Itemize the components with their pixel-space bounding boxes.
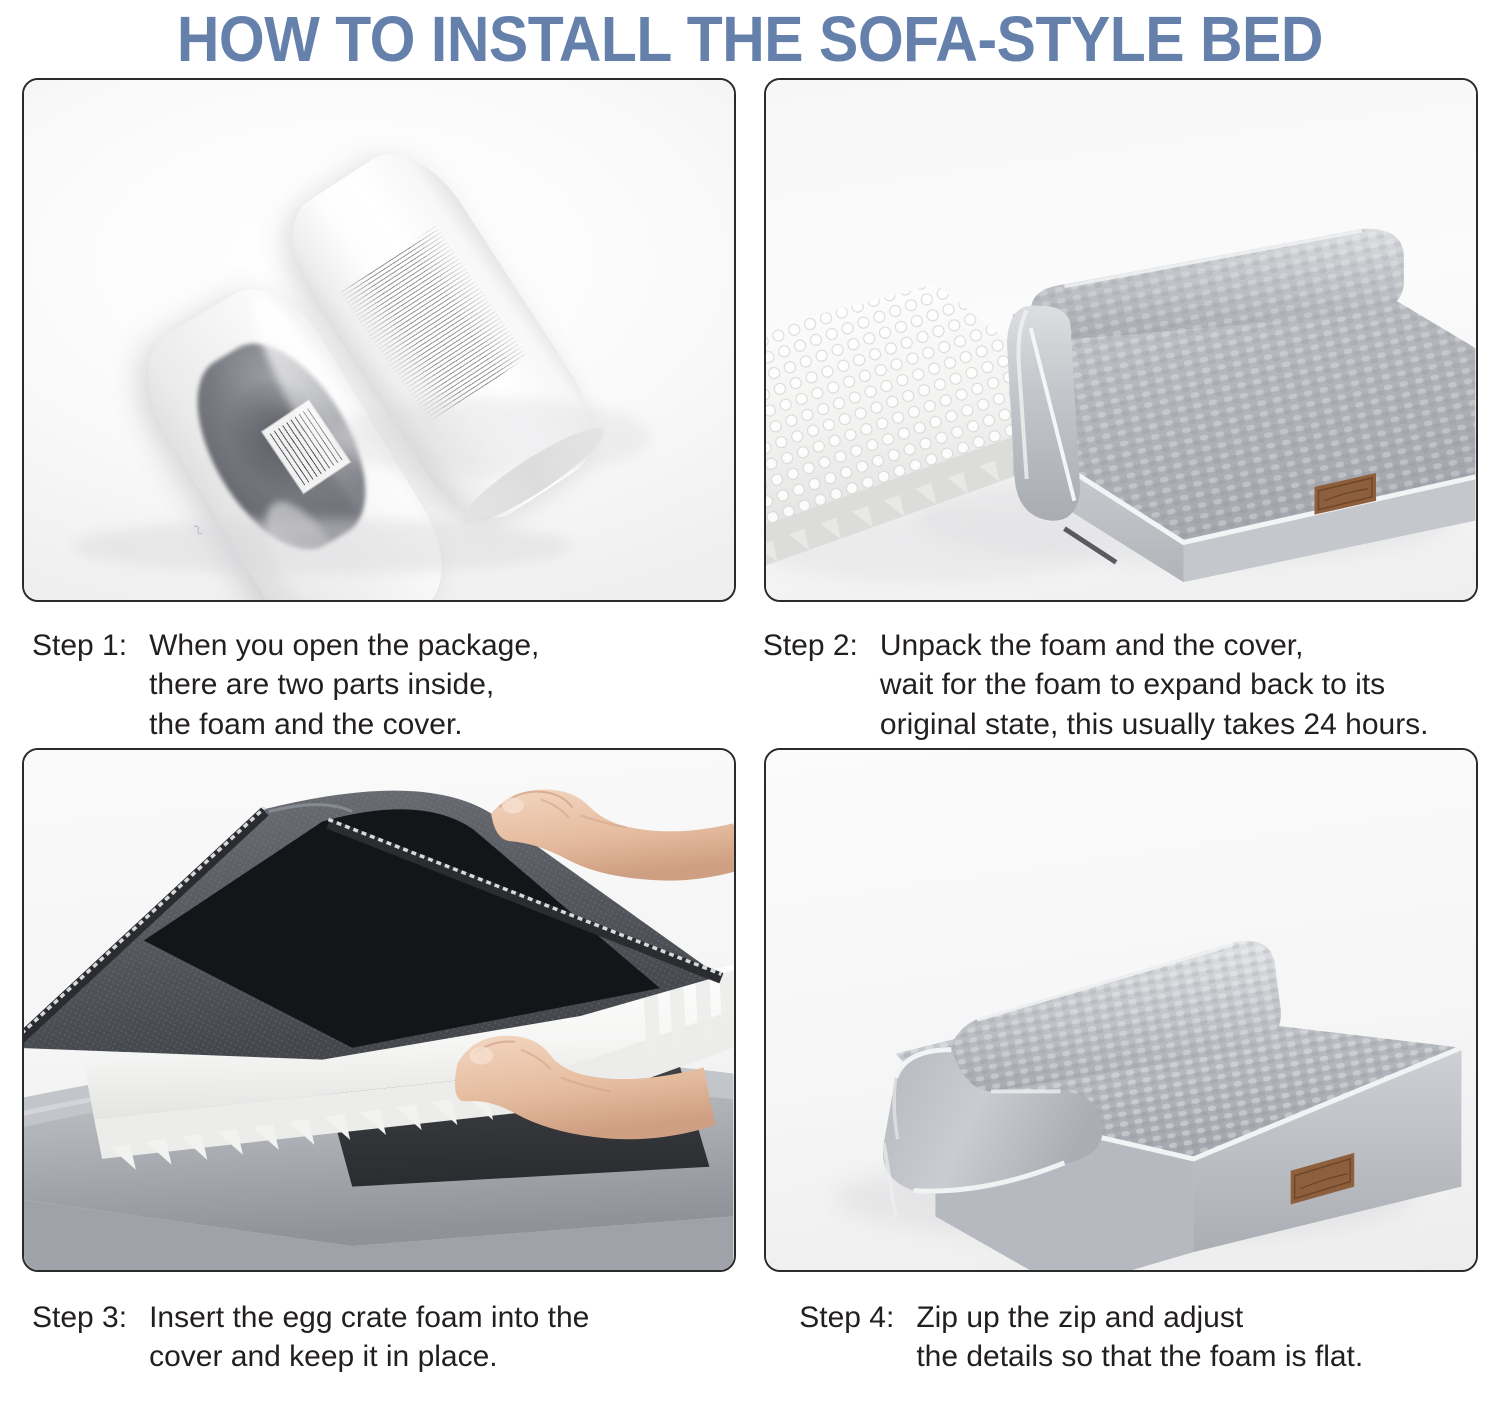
bed-and-foam-illustration [766,80,1476,600]
step-2-label: Step 2: [763,626,858,665]
finished-bed-illustration [766,750,1476,1270]
photo-row-bottom: Two hands lifting the dark gray zippered… [0,748,1500,1272]
step-2-caption: Step 2: Unpack the foam and the cover, w… [760,626,1478,748]
step-3-text: Insert the egg crate foam into the cover… [149,1298,589,1377]
page-header: HOW TO INSTALL THE SOFA-STYLE BED [0,0,1500,78]
step-4-image-panel: The assembled gray plush sofa-style bed … [764,748,1478,1272]
step-1-label: Step 1: [32,626,127,665]
caption-row-top: Step 1: When you open the package, there… [0,602,1500,748]
inserting-foam-illustration [24,750,734,1270]
photo-row-top: ~ Two vacuum-sealed rolls on a white bac… [0,78,1500,602]
panel-1-shadow-layer [24,80,734,600]
step-4-caption: Step 4: Zip up the zip and adjust the de… [759,1298,1478,1376]
step-4-label: Step 4: [799,1298,894,1337]
caption-row-bottom: Step 3: Insert the egg crate foam into t… [0,1272,1500,1376]
step-3-label: Step 3: [32,1298,127,1337]
step-3-caption: Step 3: Insert the egg crate foam into t… [22,1298,759,1376]
step-2-image-panel: Gray plush sofa-style pet bed cover with… [764,78,1478,602]
step-1-text: When you open the package, there are two… [149,626,539,744]
step-1-image-panel: ~ Two vacuum-sealed rolls on a white bac… [22,78,736,602]
page-title: HOW TO INSTALL THE SOFA-STYLE BED [177,7,1323,71]
step-3-image-panel: Two hands lifting the dark gray zippered… [22,748,736,1272]
step-1-caption: Step 1: When you open the package, there… [22,626,760,748]
step-4-text: Zip up the zip and adjust the details so… [916,1298,1363,1377]
step-2-text: Unpack the foam and the cover, wait for … [880,626,1429,744]
